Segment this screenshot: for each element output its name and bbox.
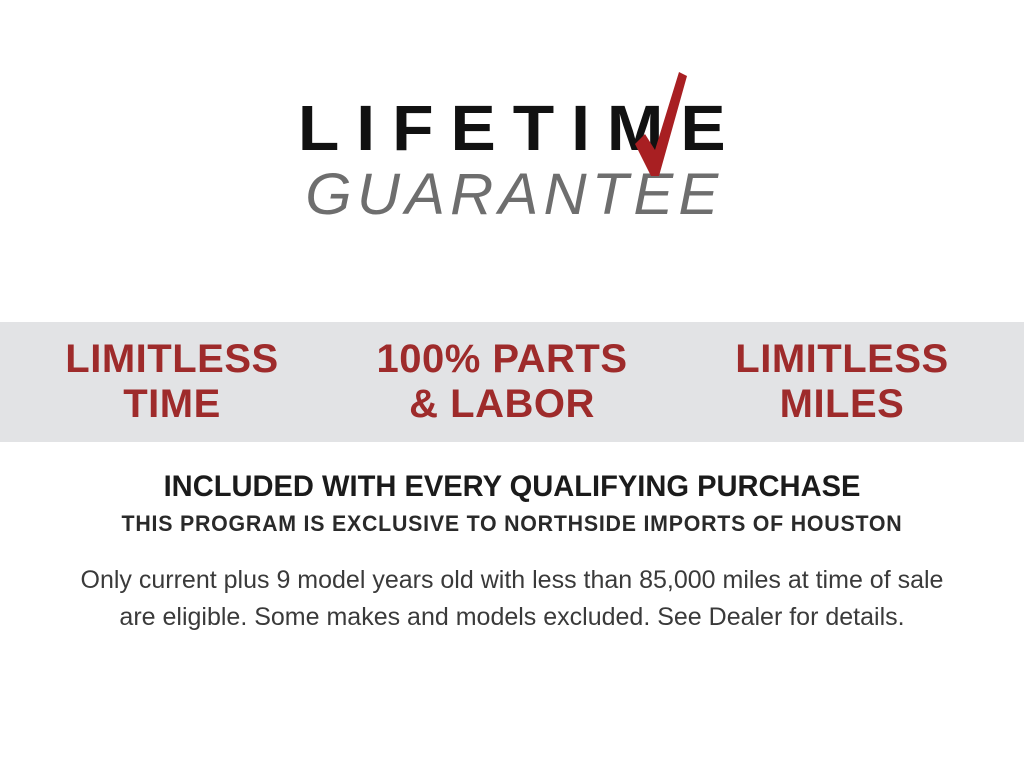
logo-lockup: LIFETIME GUARANTEE <box>0 96 1024 246</box>
details-block: INCLUDED WITH EVERY QUALIFYING PURCHASE … <box>0 470 1024 635</box>
feature-limitless-time: LIMITLESS TIME <box>17 337 327 427</box>
feature-limitless-time-line-1: LIMITLESS <box>17 337 327 382</box>
feature-parts-and-labor-line-1: 100% PARTS <box>327 337 677 382</box>
disclaimer-text: Only current plus 9 model years old with… <box>62 562 962 635</box>
lifetime-guarantee-promo-card: LIFETIME GUARANTEE LIMITLESS TIME 100% P… <box>0 0 1024 768</box>
feature-limitless-miles-line-1: LIMITLESS <box>677 337 1007 382</box>
logo-guarantee-text: GUARANTEE <box>288 166 737 224</box>
feature-limitless-miles-line-2: MILES <box>677 382 1007 427</box>
details-subheadline: THIS PROGRAM IS EXCLUSIVE TO NORTHSIDE I… <box>15 511 1008 536</box>
feature-parts-and-labor: 100% PARTS & LABOR <box>327 337 677 427</box>
feature-limitless-miles: LIMITLESS MILES <box>677 337 1007 427</box>
logo-lifetime-text: LIFETIME <box>281 96 743 160</box>
details-headline: INCLUDED WITH EVERY QUALIFYING PURCHASE <box>15 470 1008 503</box>
feature-limitless-time-line-2: TIME <box>17 382 327 427</box>
feature-parts-and-labor-line-2: & LABOR <box>327 382 677 427</box>
feature-banner: LIMITLESS TIME 100% PARTS & LABOR LIMITL… <box>0 322 1024 442</box>
logo-wordmark: LIFETIME GUARANTEE <box>294 96 730 224</box>
